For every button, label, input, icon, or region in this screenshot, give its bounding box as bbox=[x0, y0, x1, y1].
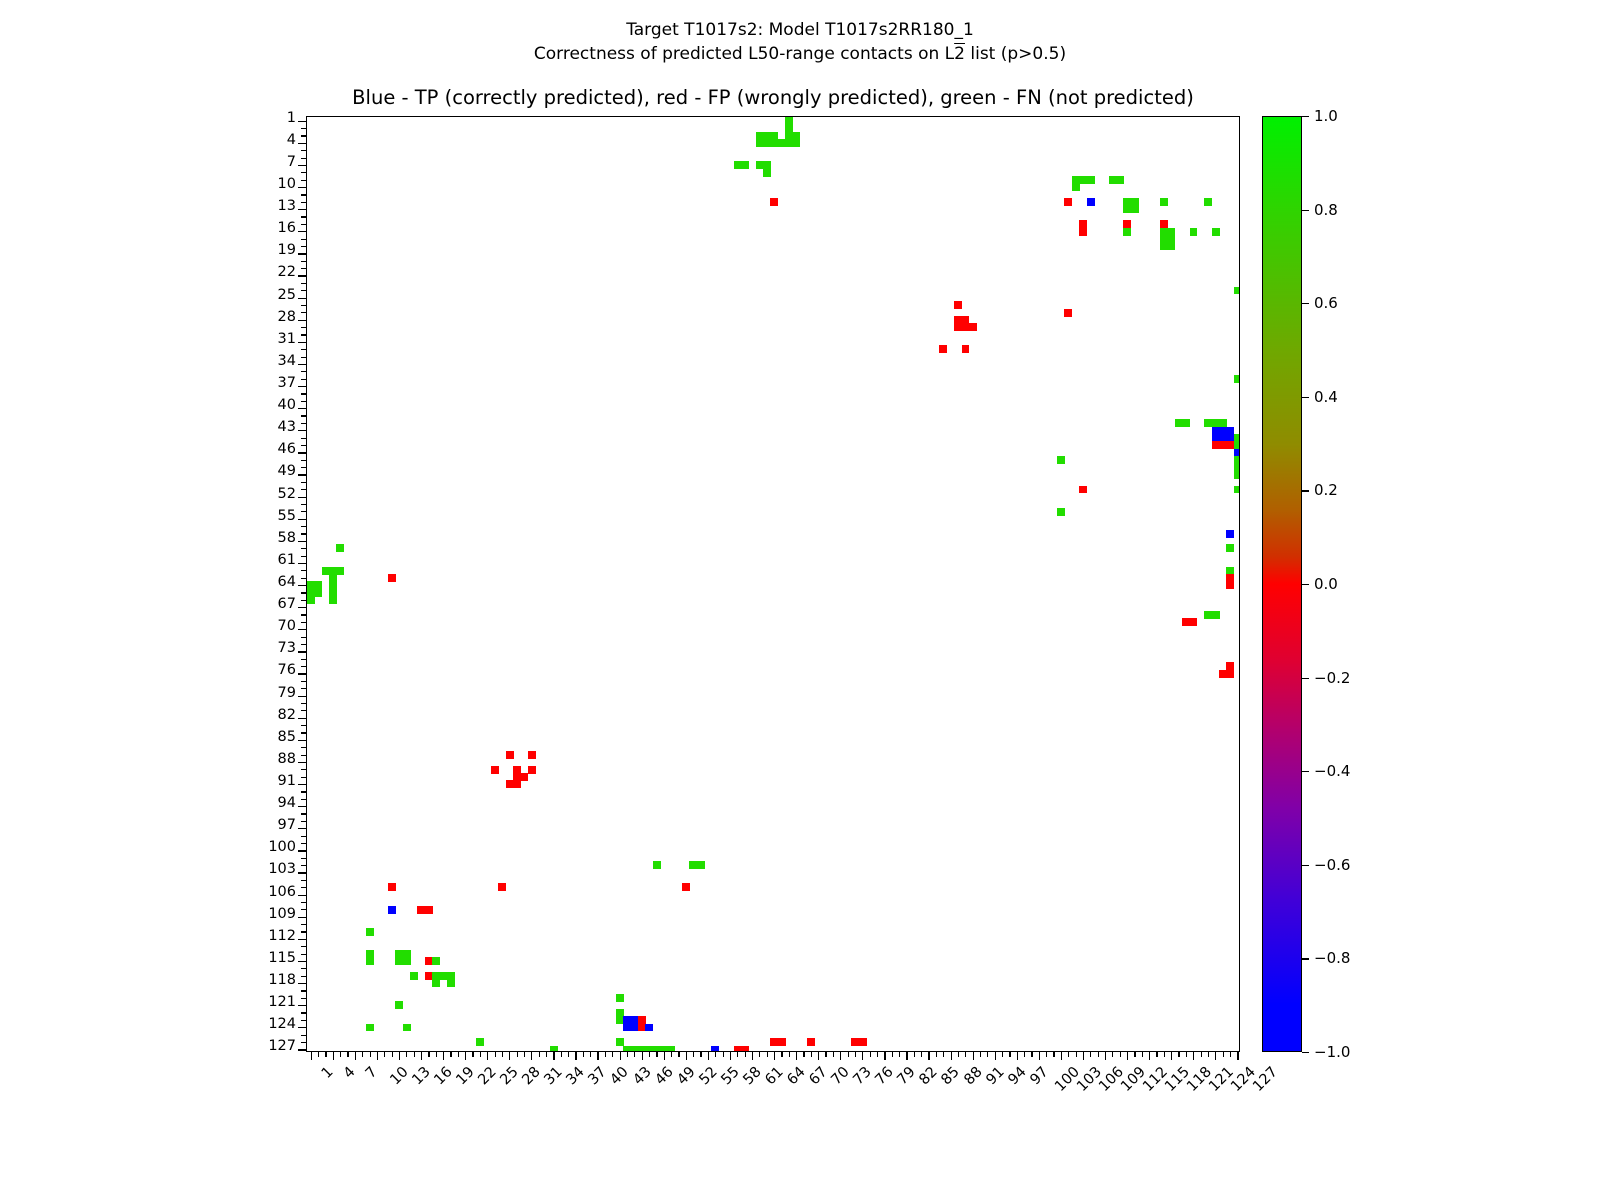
y-axis-tick-labels: 1471013161922252831343740434649525558616… bbox=[248, 116, 296, 1052]
contact-cell-fp bbox=[388, 883, 396, 891]
y-axis-tick-label: 52 bbox=[278, 486, 296, 502]
colorbar-tick bbox=[1302, 678, 1309, 679]
contact-cell-fn bbox=[1057, 456, 1065, 464]
x-axis-tick-label: 127 bbox=[1250, 1064, 1281, 1095]
y-axis-tick-label: 49 bbox=[278, 463, 296, 479]
colorbar-tick-label: −0.6 bbox=[1314, 856, 1350, 874]
subtitle-prefix: Correctness of predicted L50-range conta… bbox=[534, 44, 954, 64]
contact-cell-fp bbox=[939, 345, 947, 353]
y-axis-tick bbox=[301, 312, 307, 313]
y-axis-tick-label: 22 bbox=[278, 264, 296, 280]
contact-cell-fn bbox=[1160, 198, 1168, 206]
y-axis-tick bbox=[301, 526, 307, 527]
x-axis-tick-label: 16 bbox=[431, 1064, 455, 1088]
y-axis-tick bbox=[301, 998, 307, 999]
colorbar-tick bbox=[1302, 490, 1309, 491]
y-axis-tick-label: 73 bbox=[278, 640, 296, 656]
y-axis-tick-label: 58 bbox=[278, 530, 296, 546]
contact-cell-fp bbox=[1079, 228, 1087, 236]
contact-cell-fp bbox=[1226, 581, 1234, 589]
x-axis-tick-label: 97 bbox=[1027, 1064, 1051, 1088]
y-axis-tick-label: 55 bbox=[278, 508, 296, 524]
contact-cell-fp bbox=[425, 906, 433, 914]
y-axis-tick bbox=[301, 777, 307, 778]
y-axis-tick bbox=[301, 379, 307, 380]
y-axis-tick bbox=[301, 1042, 307, 1043]
contact-cell-fn bbox=[476, 1038, 484, 1046]
contact-cell-fn bbox=[1123, 228, 1131, 236]
y-axis-tick bbox=[301, 128, 307, 129]
y-axis-tick-label: 79 bbox=[278, 685, 296, 701]
y-axis-tick bbox=[301, 216, 307, 217]
contact-cell-fn bbox=[403, 1024, 411, 1032]
contact-cell-fp bbox=[1190, 618, 1198, 626]
y-axis-tick bbox=[301, 489, 307, 490]
y-axis-tick bbox=[298, 143, 307, 144]
y-axis-tick-label: 16 bbox=[278, 220, 296, 236]
y-axis-tick-label: 115 bbox=[268, 950, 296, 966]
contact-cell-fn bbox=[653, 861, 661, 869]
contact-cell-fp bbox=[1226, 670, 1234, 678]
colorbar-tick bbox=[1302, 397, 1309, 398]
contact-cell-fn bbox=[1212, 611, 1220, 619]
y-axis-tick bbox=[301, 968, 307, 969]
y-axis-tick bbox=[301, 548, 307, 549]
contact-cell-fp bbox=[969, 323, 977, 331]
contact-cell-fn bbox=[1204, 198, 1212, 206]
colorbar-tick bbox=[1302, 210, 1309, 211]
y-axis-tick bbox=[301, 1020, 307, 1021]
colorbar-tick-label: 0.4 bbox=[1314, 388, 1338, 406]
contact-cell-fn bbox=[366, 928, 374, 936]
colorbar-tick bbox=[1302, 958, 1309, 959]
y-axis-tick bbox=[298, 253, 307, 254]
contact-cell-fn bbox=[763, 169, 771, 177]
x-axis-tick-label: 61 bbox=[762, 1064, 786, 1088]
x-axis-tick-label: 1 bbox=[318, 1064, 336, 1082]
contact-cell-fn bbox=[697, 861, 705, 869]
colorbar[interactable]: 1.00.80.60.40.20.0−0.2−0.4−0.6−0.8−1.0 bbox=[1262, 116, 1302, 1052]
x-axis-tick-label: 22 bbox=[476, 1064, 500, 1088]
y-axis-tick bbox=[298, 298, 307, 299]
y-axis-tick-label: 76 bbox=[278, 662, 296, 678]
contact-cell-fn bbox=[1226, 544, 1234, 552]
contact-cell-fp bbox=[770, 198, 778, 206]
y-axis-tick bbox=[298, 519, 307, 520]
y-axis-tick bbox=[298, 673, 307, 674]
colorbar-tick bbox=[1302, 865, 1309, 866]
subtitle-overline-token: 2 bbox=[954, 44, 965, 64]
y-axis-tick-label: 40 bbox=[278, 397, 296, 413]
y-axis-tick bbox=[298, 762, 307, 763]
y-axis-tick bbox=[301, 813, 307, 814]
colorbar-tick-label: −0.8 bbox=[1314, 949, 1350, 967]
contact-cell-fp bbox=[388, 574, 396, 582]
y-axis-tick bbox=[301, 976, 307, 977]
y-axis-tick bbox=[301, 725, 307, 726]
suptitle-line-1: Target T1017s2: Model T1017s2RR180_1 bbox=[0, 18, 1600, 42]
y-axis-tick bbox=[301, 644, 307, 645]
contact-cell-fn bbox=[1234, 287, 1239, 295]
y-axis-tick-label: 88 bbox=[278, 751, 296, 767]
y-axis-tick bbox=[301, 637, 307, 638]
y-axis-tick bbox=[298, 452, 307, 453]
colorbar-tick-label: −0.4 bbox=[1314, 762, 1350, 780]
y-axis-tick bbox=[298, 563, 307, 564]
y-axis-tick bbox=[298, 1005, 307, 1006]
y-axis-tick bbox=[298, 231, 307, 232]
colorbar-tick-label: 0.8 bbox=[1314, 201, 1338, 219]
contact-cell-fp bbox=[513, 780, 521, 788]
y-axis-tick bbox=[301, 511, 307, 512]
y-axis-tick bbox=[301, 283, 307, 284]
contact-cell-fn bbox=[432, 979, 440, 987]
y-axis-tick bbox=[301, 224, 307, 225]
y-axis-tick bbox=[301, 600, 307, 601]
x-axis-tick-label: 10 bbox=[387, 1064, 411, 1088]
contact-cell-fp bbox=[859, 1038, 867, 1046]
y-axis-tick-label: 82 bbox=[278, 707, 296, 723]
y-axis-tick bbox=[301, 504, 307, 505]
y-axis-tick bbox=[298, 386, 307, 387]
y-axis-tick bbox=[298, 474, 307, 475]
y-axis-tick bbox=[301, 202, 307, 203]
y-axis-tick-label: 13 bbox=[278, 198, 296, 214]
y-axis-tick bbox=[301, 710, 307, 711]
y-axis-tick bbox=[301, 659, 307, 660]
contact-cell-fp bbox=[498, 883, 506, 891]
y-axis-tick bbox=[298, 607, 307, 608]
y-axis-tick bbox=[301, 460, 307, 461]
y-axis-tick bbox=[298, 408, 307, 409]
contact-cell-fn bbox=[1057, 508, 1065, 516]
y-axis-tick-label: 91 bbox=[278, 773, 296, 789]
y-axis-tick bbox=[298, 165, 307, 166]
y-axis-tick bbox=[298, 806, 307, 807]
y-axis-tick bbox=[301, 150, 307, 151]
contact-cell-fn bbox=[336, 567, 344, 575]
y-axis-tick bbox=[301, 924, 307, 925]
y-axis-tick bbox=[301, 622, 307, 623]
y-axis-tick bbox=[298, 718, 307, 719]
contact-cell-fn bbox=[792, 139, 800, 147]
y-axis-tick-label: 1 bbox=[287, 110, 296, 126]
y-axis-tick bbox=[301, 415, 307, 416]
y-axis-tick bbox=[301, 482, 307, 483]
x-axis-tick-label: 19 bbox=[453, 1064, 477, 1088]
y-axis-tick bbox=[301, 334, 307, 335]
contact-cell-fn bbox=[1116, 176, 1124, 184]
y-axis-tick bbox=[301, 371, 307, 372]
y-axis-tick bbox=[301, 349, 307, 350]
x-axis-tick-label: 25 bbox=[498, 1064, 522, 1088]
y-axis-tick bbox=[298, 1049, 307, 1050]
contact-cell-fn bbox=[395, 1001, 403, 1009]
y-axis-tick-label: 43 bbox=[278, 419, 296, 435]
colorbar-tick-label: 0.2 bbox=[1314, 481, 1338, 499]
colorbar-tick-label: −0.2 bbox=[1314, 669, 1350, 687]
y-axis-tick bbox=[301, 769, 307, 770]
x-axis-tick-label: 40 bbox=[608, 1064, 632, 1088]
y-axis-tick bbox=[301, 305, 307, 306]
y-axis-tick bbox=[298, 784, 307, 785]
x-axis-tick-label: 55 bbox=[718, 1064, 742, 1088]
contact-cell-fn bbox=[1212, 228, 1220, 236]
y-axis-tick bbox=[298, 497, 307, 498]
y-axis-tick bbox=[301, 755, 307, 756]
contact-cell-fn bbox=[1131, 205, 1139, 213]
y-axis-tick bbox=[298, 983, 307, 984]
y-axis-tick-label: 67 bbox=[278, 596, 296, 612]
y-axis-tick bbox=[301, 158, 307, 159]
colorbar-tick-label: 0.6 bbox=[1314, 294, 1338, 312]
contact-cell-fp bbox=[506, 751, 514, 759]
y-axis-tick bbox=[298, 342, 307, 343]
y-axis-tick bbox=[301, 533, 307, 534]
y-axis-tick bbox=[301, 570, 307, 571]
colorbar-tick bbox=[1302, 584, 1309, 585]
y-axis-tick bbox=[301, 703, 307, 704]
contact-map-plot-area[interactable] bbox=[306, 116, 1240, 1052]
contact-cell-fp bbox=[1064, 309, 1072, 317]
y-axis-tick bbox=[301, 401, 307, 402]
y-axis-tick bbox=[301, 865, 307, 866]
y-axis-tick-label: 31 bbox=[278, 331, 296, 347]
y-axis-tick-label: 4 bbox=[287, 132, 296, 148]
y-axis-tick bbox=[298, 917, 307, 918]
colorbar-tick-label: 0.0 bbox=[1314, 575, 1338, 593]
contact-cell-fn bbox=[366, 1024, 374, 1032]
y-axis-tick-label: 109 bbox=[268, 906, 296, 922]
contact-cell-fn bbox=[1167, 242, 1175, 250]
y-axis-tick bbox=[301, 261, 307, 262]
y-axis-tick bbox=[301, 423, 307, 424]
y-axis-tick bbox=[301, 467, 307, 468]
y-axis-tick-label: 34 bbox=[278, 353, 296, 369]
y-axis-tick bbox=[301, 239, 307, 240]
y-axis-tick bbox=[301, 327, 307, 328]
x-axis-tick-label: 70 bbox=[829, 1064, 853, 1088]
contact-cell-fp bbox=[778, 1038, 786, 1046]
contact-cell-fp bbox=[528, 751, 536, 759]
y-axis-tick bbox=[301, 843, 307, 844]
suptitle-line-2: Correctness of predicted L50-range conta… bbox=[0, 42, 1600, 66]
colorbar-tick bbox=[1302, 1052, 1309, 1053]
y-axis-tick bbox=[301, 135, 307, 136]
y-axis-tick bbox=[301, 902, 307, 903]
contact-cell-fp bbox=[954, 301, 962, 309]
y-axis-tick-label: 112 bbox=[268, 928, 296, 944]
contact-map-cells bbox=[307, 117, 1239, 1051]
y-axis-tick-label: 85 bbox=[278, 729, 296, 745]
y-axis-tick bbox=[301, 799, 307, 800]
y-axis-tick bbox=[301, 732, 307, 733]
y-axis-tick bbox=[301, 172, 307, 173]
y-axis-tick bbox=[301, 592, 307, 593]
y-axis-tick bbox=[301, 747, 307, 748]
contact-cell-fn bbox=[1234, 375, 1239, 383]
y-axis-tick bbox=[298, 430, 307, 431]
y-axis-tick-label: 10 bbox=[278, 176, 296, 192]
y-axis-tick bbox=[301, 578, 307, 579]
y-axis-tick bbox=[301, 666, 307, 667]
y-axis-tick bbox=[298, 364, 307, 365]
y-axis-tick bbox=[298, 275, 307, 276]
y-axis-tick bbox=[298, 872, 307, 873]
contact-cell-fp bbox=[682, 883, 690, 891]
x-axis-tick-label: 88 bbox=[961, 1064, 985, 1088]
y-axis-tick-label: 121 bbox=[268, 994, 296, 1010]
y-axis-tick bbox=[298, 1027, 307, 1028]
y-axis-tick bbox=[301, 880, 307, 881]
contact-cell-fn bbox=[1072, 183, 1080, 191]
y-axis-tick-label: 124 bbox=[268, 1016, 296, 1032]
contact-cell-fn bbox=[366, 957, 374, 965]
y-axis-tick-label: 7 bbox=[287, 154, 296, 170]
y-axis-tick-label: 19 bbox=[278, 242, 296, 258]
y-axis-tick bbox=[298, 895, 307, 896]
y-axis-tick bbox=[301, 194, 307, 195]
y-axis-tick bbox=[298, 740, 307, 741]
y-axis-tick bbox=[298, 850, 307, 851]
contact-cell-fn bbox=[1182, 419, 1190, 427]
y-axis-tick-label: 94 bbox=[278, 795, 296, 811]
y-axis-tick-label: 106 bbox=[268, 884, 296, 900]
y-axis-tick bbox=[301, 393, 307, 394]
y-axis-tick bbox=[298, 651, 307, 652]
figure-suptitle: Target T1017s2: Model T1017s2RR180_1 Cor… bbox=[0, 18, 1600, 66]
x-axis-tick-labels: 1471013161922252831343740434649525558616… bbox=[306, 1052, 1240, 1162]
contact-cell-fn bbox=[616, 994, 624, 1002]
contact-cell-fn bbox=[1087, 176, 1095, 184]
contact-cell-fn bbox=[741, 161, 749, 169]
y-axis-tick bbox=[301, 246, 307, 247]
y-axis-tick bbox=[301, 290, 307, 291]
contact-cell-fn bbox=[329, 596, 337, 604]
y-axis-tick bbox=[301, 954, 307, 955]
y-axis-tick bbox=[301, 931, 307, 932]
contact-cell-fn bbox=[432, 957, 440, 965]
y-axis-tick bbox=[298, 209, 307, 210]
y-axis-tick bbox=[301, 681, 307, 682]
y-axis-tick-label: 118 bbox=[268, 972, 296, 988]
y-axis-tick bbox=[298, 696, 307, 697]
x-axis-tick-label: 7 bbox=[363, 1064, 381, 1082]
colorbar-gradient bbox=[1262, 116, 1302, 1052]
contact-cell-fn bbox=[403, 957, 411, 965]
x-axis-tick-label: 52 bbox=[696, 1064, 720, 1088]
y-axis-tick bbox=[298, 541, 307, 542]
x-axis-tick-label: 46 bbox=[652, 1064, 676, 1088]
y-axis-tick bbox=[301, 438, 307, 439]
contact-cell-tp bbox=[388, 906, 396, 914]
y-axis-tick bbox=[298, 961, 307, 962]
y-axis-tick-label: 127 bbox=[268, 1038, 296, 1054]
contact-cell-fn bbox=[447, 979, 455, 987]
y-axis-tick bbox=[298, 585, 307, 586]
x-axis-tick-label: 49 bbox=[674, 1064, 698, 1088]
y-axis-tick-label: 37 bbox=[278, 375, 296, 391]
y-axis-tick-label: 100 bbox=[268, 839, 296, 855]
subtitle-suffix: list (p>0.5) bbox=[965, 44, 1066, 64]
x-axis-tick-label: 4 bbox=[340, 1064, 358, 1082]
y-axis-tick-label: 103 bbox=[268, 861, 296, 877]
y-axis-tick bbox=[301, 268, 307, 269]
y-axis-tick bbox=[301, 821, 307, 822]
contact-cell-fp bbox=[1064, 198, 1072, 206]
colorbar-tick bbox=[1302, 771, 1309, 772]
colorbar-tick bbox=[1302, 303, 1309, 304]
y-axis-tick bbox=[301, 791, 307, 792]
colorbar-tick bbox=[1302, 116, 1309, 117]
colorbar-tick-label: 1.0 bbox=[1314, 107, 1338, 125]
contact-cell-fp bbox=[520, 773, 528, 781]
y-axis-tick-label: 25 bbox=[278, 287, 296, 303]
contact-cell-fn bbox=[336, 544, 344, 552]
x-axis-tick-label: 13 bbox=[409, 1064, 433, 1088]
x-axis-tick-label: 67 bbox=[806, 1064, 830, 1088]
y-axis-tick bbox=[298, 320, 307, 321]
y-axis-tick bbox=[301, 836, 307, 837]
contact-cell-fn bbox=[314, 589, 322, 597]
contact-cell-tp bbox=[1226, 530, 1234, 538]
contact-cell-tp bbox=[645, 1024, 653, 1032]
y-axis-tick bbox=[298, 629, 307, 630]
x-axis-tick-label: 58 bbox=[740, 1064, 764, 1088]
y-axis-tick-label: 46 bbox=[278, 441, 296, 457]
y-axis-tick bbox=[301, 445, 307, 446]
x-axis-tick-label: 91 bbox=[983, 1064, 1007, 1088]
y-axis-tick-label: 61 bbox=[278, 552, 296, 568]
x-axis-tick-label: 94 bbox=[1005, 1064, 1029, 1088]
y-axis-tick bbox=[301, 990, 307, 991]
y-axis-tick bbox=[301, 357, 307, 358]
contact-cell-fn bbox=[1234, 486, 1239, 494]
x-axis-tick-label: 85 bbox=[939, 1064, 963, 1088]
contact-cell-fp bbox=[1079, 486, 1087, 494]
contact-cell-fn bbox=[307, 596, 315, 604]
y-axis-tick bbox=[298, 121, 307, 122]
axes-title-legend: Blue - TP (correctly predicted), red - F… bbox=[306, 86, 1240, 109]
contact-cell-fp bbox=[528, 766, 536, 774]
y-axis-tick bbox=[301, 1035, 307, 1036]
y-axis-tick bbox=[301, 1012, 307, 1013]
contact-cell-fp bbox=[491, 766, 499, 774]
y-axis-tick bbox=[298, 187, 307, 188]
x-axis-tick-label: 43 bbox=[630, 1064, 654, 1088]
y-axis-tick bbox=[298, 828, 307, 829]
y-axis-tick-label: 28 bbox=[278, 309, 296, 325]
y-axis-tick bbox=[301, 688, 307, 689]
y-axis-tick bbox=[301, 614, 307, 615]
y-axis-tick bbox=[301, 909, 307, 910]
contact-cell-tp bbox=[1087, 198, 1095, 206]
x-axis-tick-label: 64 bbox=[784, 1064, 808, 1088]
y-axis-tick-label: 70 bbox=[278, 618, 296, 634]
contact-cell-fp bbox=[962, 345, 970, 353]
y-axis-tick bbox=[301, 180, 307, 181]
contact-cell-fn bbox=[1234, 471, 1239, 479]
y-axis-tick bbox=[301, 858, 307, 859]
y-axis-tick-label: 64 bbox=[278, 574, 296, 590]
contact-cell-fn bbox=[410, 972, 418, 980]
colorbar-tick-label: −1.0 bbox=[1314, 1043, 1350, 1061]
y-axis-tick-label: 97 bbox=[278, 817, 296, 833]
y-axis-tick bbox=[298, 939, 307, 940]
y-axis-tick bbox=[301, 556, 307, 557]
contact-cell-fp bbox=[807, 1038, 815, 1046]
y-axis-tick bbox=[301, 887, 307, 888]
